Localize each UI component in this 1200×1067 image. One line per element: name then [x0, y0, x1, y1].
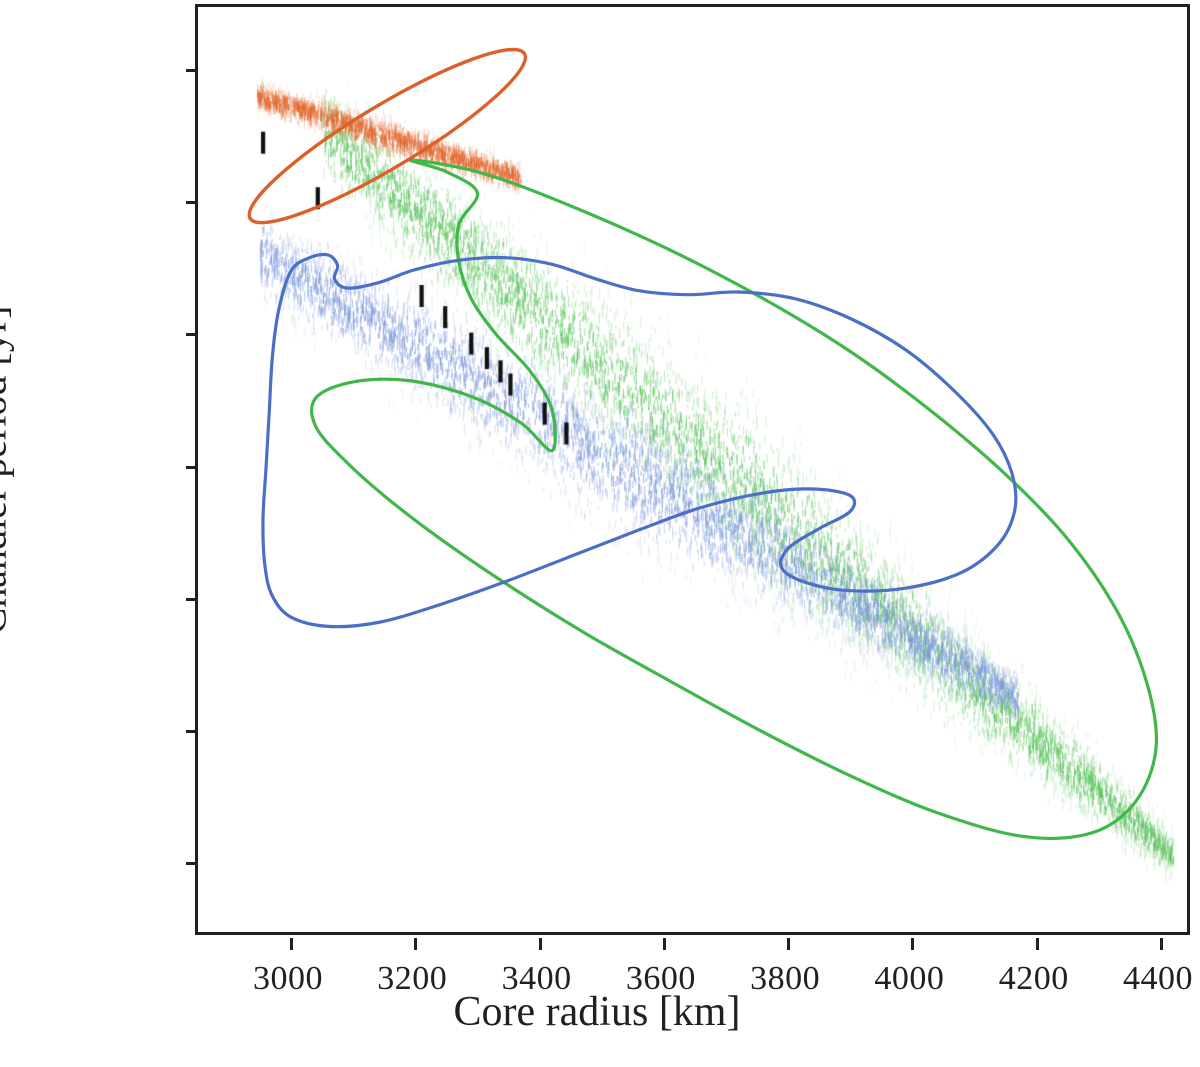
x-tick-label-3800: 3800 [750, 960, 820, 998]
x-axis-title: Core radius [km] [454, 988, 741, 1036]
y-tick-16000 [186, 466, 198, 469]
x-tick-label-4000: 4000 [874, 960, 944, 998]
x-tick-label-3000: 3000 [253, 960, 323, 998]
y-tick-18000 [186, 201, 198, 204]
plot-area [195, 4, 1190, 935]
x-tick-3800 [787, 938, 790, 950]
y-tick-17000 [186, 333, 198, 336]
y-axis-title: Chandler period [yr] [0, 306, 16, 635]
y-tick-15000 [186, 598, 198, 601]
x-tick-3200 [414, 938, 417, 950]
x-tick-3000 [290, 938, 293, 950]
x-tick-4400 [1160, 938, 1163, 950]
orange-contour-ellipse [234, 27, 540, 245]
chart-figure: 13000140001500016000170001800019000 3000… [0, 0, 1200, 1067]
x-tick-3600 [663, 938, 666, 950]
y-tick-14000 [186, 730, 198, 733]
x-tick-4200 [1036, 938, 1039, 950]
blue-contour-path [263, 254, 1016, 626]
x-tick-label-4200: 4200 [999, 960, 1069, 998]
contour-layer [198, 7, 1187, 932]
x-tick-3400 [539, 938, 542, 950]
y-tick-13000 [186, 862, 198, 865]
x-tick-label-4400: 4400 [1123, 960, 1193, 998]
x-tick-4000 [911, 938, 914, 950]
y-tick-19000 [186, 69, 198, 72]
x-tick-label-3200: 3200 [377, 960, 447, 998]
